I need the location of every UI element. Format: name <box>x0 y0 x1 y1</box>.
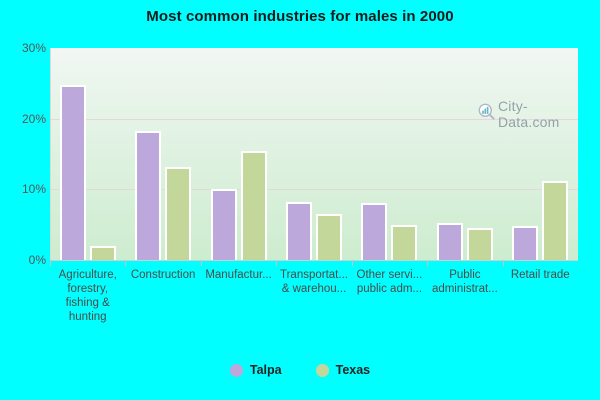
x-axis-line <box>50 260 578 261</box>
bars-layer <box>50 48 578 260</box>
category-tick <box>125 260 126 266</box>
chart-title: Most common industries for males in 2000 <box>0 8 600 25</box>
bar-texas-5 <box>467 228 493 261</box>
category-tick <box>352 260 353 266</box>
y-tick-label: 10% <box>4 183 46 195</box>
legend-label: Texas <box>336 363 371 377</box>
bar-talpa-0 <box>60 85 86 260</box>
legend-swatch-icon <box>316 364 329 377</box>
legend-label: Talpa <box>250 363 282 377</box>
category-tick <box>427 260 428 266</box>
x-axis-label: Construction <box>125 268 200 282</box>
y-tick-label: 20% <box>4 113 46 125</box>
bar-talpa-5 <box>437 223 463 260</box>
category-tick <box>201 260 202 266</box>
bar-texas-3 <box>316 214 342 260</box>
bar-talpa-3 <box>286 202 312 260</box>
x-axis-label: Manufactur... <box>201 268 276 282</box>
legend-swatch-icon <box>230 364 243 377</box>
x-axis-label: Other servi... public adm... <box>352 268 427 296</box>
bar-texas-4 <box>391 225 417 260</box>
x-axis-label: Public administrat... <box>427 268 502 296</box>
bar-talpa-1 <box>135 131 161 260</box>
y-tick-label: 0% <box>4 254 46 266</box>
category-tick <box>276 260 277 266</box>
bar-talpa-4 <box>361 203 387 260</box>
y-tick-label: 30% <box>4 42 46 54</box>
y-axis: 0%10%20%30% <box>0 0 46 400</box>
x-axis-label: Transportat... & warehou... <box>276 268 351 296</box>
bar-texas-2 <box>241 151 267 260</box>
legend-item-texas[interactable]: Texas <box>316 363 371 377</box>
x-axis-label: Agriculture, forestry, fishing & hunting <box>50 268 125 324</box>
bar-texas-1 <box>165 167 191 260</box>
bar-talpa-6 <box>512 226 538 260</box>
category-tick <box>50 260 51 266</box>
bar-chart: Most common industries for males in 2000… <box>0 0 600 400</box>
bar-texas-0 <box>90 246 116 260</box>
legend-item-talpa[interactable]: Talpa <box>230 363 282 377</box>
bar-talpa-2 <box>211 189 237 260</box>
category-tick <box>503 260 504 266</box>
bar-texas-6 <box>542 181 568 260</box>
legend: TalpaTexas <box>0 363 600 377</box>
x-axis-label: Retail trade <box>503 268 578 282</box>
